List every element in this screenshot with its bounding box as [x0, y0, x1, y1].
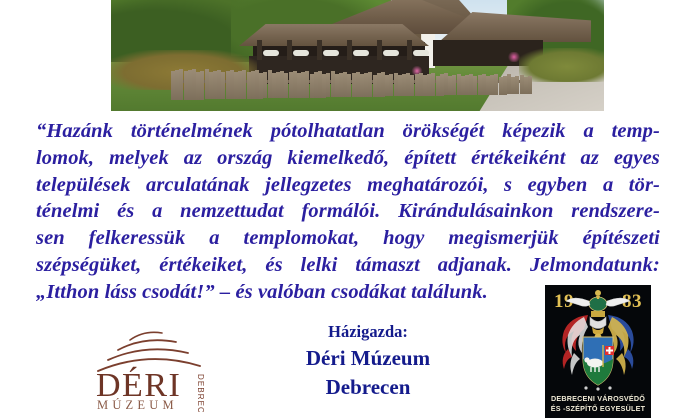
porch-flower-box	[263, 50, 279, 56]
quote-line: senfelkeressükatemplomokat,hogymegismerj…	[36, 225, 660, 252]
fence-picket	[528, 76, 532, 94]
quote-word: örökségét	[403, 118, 485, 145]
wooden-church-photo	[111, 0, 604, 111]
quote-text-block: “Hazánktörténelménekpótolhatatlanörökség…	[36, 118, 660, 306]
quote-word: az	[580, 145, 598, 172]
porch-column	[287, 40, 292, 60]
quote-word: s	[504, 172, 512, 199]
quote-line: lomok,melyekazországkiemelkedő,építettér…	[36, 145, 660, 172]
quote-word: megismerjük	[448, 225, 558, 252]
quote-word: templomokat,	[244, 225, 360, 252]
quote-word: történelmének	[131, 118, 253, 145]
quote-word: a	[152, 198, 162, 225]
quote-word: melyek	[109, 145, 169, 172]
quote-word: formálói.	[301, 198, 380, 225]
quote-line: szépségüket,értékeiket,éslelkitámasztadj…	[36, 252, 660, 279]
quote-word: építészeti	[583, 225, 660, 252]
quote-word: lomok,	[36, 145, 94, 172]
emblem-org-name: DEBRECENI VÁROSVÉDŐ ÉS -SZÉPÍTŐ EGYESÜLE…	[545, 394, 651, 413]
quote-word: rendszere-	[571, 198, 660, 225]
porch-flower-box	[413, 50, 429, 56]
emblem-org-line2: ÉS -SZÉPÍTŐ EGYESÜLET	[545, 404, 651, 414]
deri-dome-icon: DÉRI MÚZEUM DEBRECEN	[84, 324, 234, 412]
quote-word: a	[583, 118, 593, 145]
photo-picket-fence	[171, 64, 531, 106]
porch-column	[317, 40, 322, 60]
quote-word: tör-	[629, 172, 660, 199]
quote-word: és	[265, 252, 282, 279]
host-label: Házigazda:	[268, 320, 468, 344]
quote-word: a	[209, 225, 219, 252]
quote-word: képezik	[502, 118, 565, 145]
quote-word: értékeiket,	[159, 252, 247, 279]
quote-line: “Hazánktörténelménekpótolhatatlanörökség…	[36, 118, 660, 145]
quote-word: települések	[36, 172, 130, 199]
porch-flower-box	[383, 50, 399, 56]
host-block: Házigazda: Déri Múzeum Debrecen	[268, 320, 468, 402]
quote-word: Jelmondatunk:	[530, 252, 660, 279]
quote-word: Kirándulásainkon	[398, 198, 553, 225]
quote-word: pótolhatatlan	[271, 118, 385, 145]
quote-word: épített	[404, 145, 456, 172]
host-name-line1: Déri Múzeum	[268, 344, 468, 373]
quote-word: kiemelkedő,	[287, 145, 389, 172]
porch-flower-box	[353, 50, 369, 56]
quote-word: hogy	[383, 225, 424, 252]
porch-column	[257, 40, 262, 60]
photo-porch-roof	[239, 24, 429, 46]
deri-logo-subtitle: MÚZEUM	[97, 398, 178, 412]
quote-word: egyes	[614, 145, 660, 172]
quote-word: a	[603, 172, 613, 199]
quote-word: adjanak.	[438, 252, 512, 279]
emblem-org-line1: DEBRECENI VÁROSVÉDŐ	[545, 394, 651, 404]
crest-dots	[584, 386, 611, 390]
quote-line: településekarculatánakjellegzetesmeghatá…	[36, 172, 660, 199]
porch-column	[347, 40, 352, 60]
crest-bird	[566, 290, 630, 311]
porch-column	[377, 40, 382, 60]
quote-word: felkeressük	[89, 225, 186, 252]
quote-word: sen	[36, 225, 65, 252]
deri-logo-vertical: DEBRECEN	[196, 374, 205, 412]
crest-shield	[583, 337, 614, 385]
photo-flowers-pink-2	[507, 52, 521, 62]
coat-of-arms-icon	[550, 287, 646, 391]
deri-muzeum-logo: DÉRI MÚZEUM DEBRECEN	[84, 324, 234, 412]
quote-word: ténelmi	[36, 198, 99, 225]
quote-word: egyben	[528, 172, 588, 199]
quote-word: az	[184, 145, 202, 172]
quote-word: szépségüket,	[36, 252, 141, 279]
quote-word: nemzettudat	[180, 198, 284, 225]
host-name-line2: Debrecen	[268, 373, 468, 402]
quote-word: arculatának	[146, 172, 250, 199]
crest-helmet	[590, 311, 606, 341]
quote-word: jellegzetes	[265, 172, 351, 199]
footer-area: DÉRI MÚZEUM DEBRECEN Házigazda: Déri Múz…	[0, 310, 696, 418]
quote-word: értékeiként	[471, 145, 565, 172]
quote-word: támaszt	[355, 252, 420, 279]
quote-word: ország	[217, 145, 272, 172]
quote-word: meghatározói,	[367, 172, 488, 199]
quote-word: lelki	[301, 252, 338, 279]
varosvedo-egyesulet-emblem: 19 83	[545, 285, 651, 418]
porch-flower-box	[323, 50, 339, 56]
porch-column	[407, 40, 412, 60]
quote-line: ténelmiésanemzettudatformálói.Kirándulás…	[36, 198, 660, 225]
quote-word: “Hazánk	[36, 118, 113, 145]
porch-flower-box	[293, 50, 309, 56]
quote-word: és	[117, 198, 134, 225]
quote-word: temp-	[612, 118, 660, 145]
